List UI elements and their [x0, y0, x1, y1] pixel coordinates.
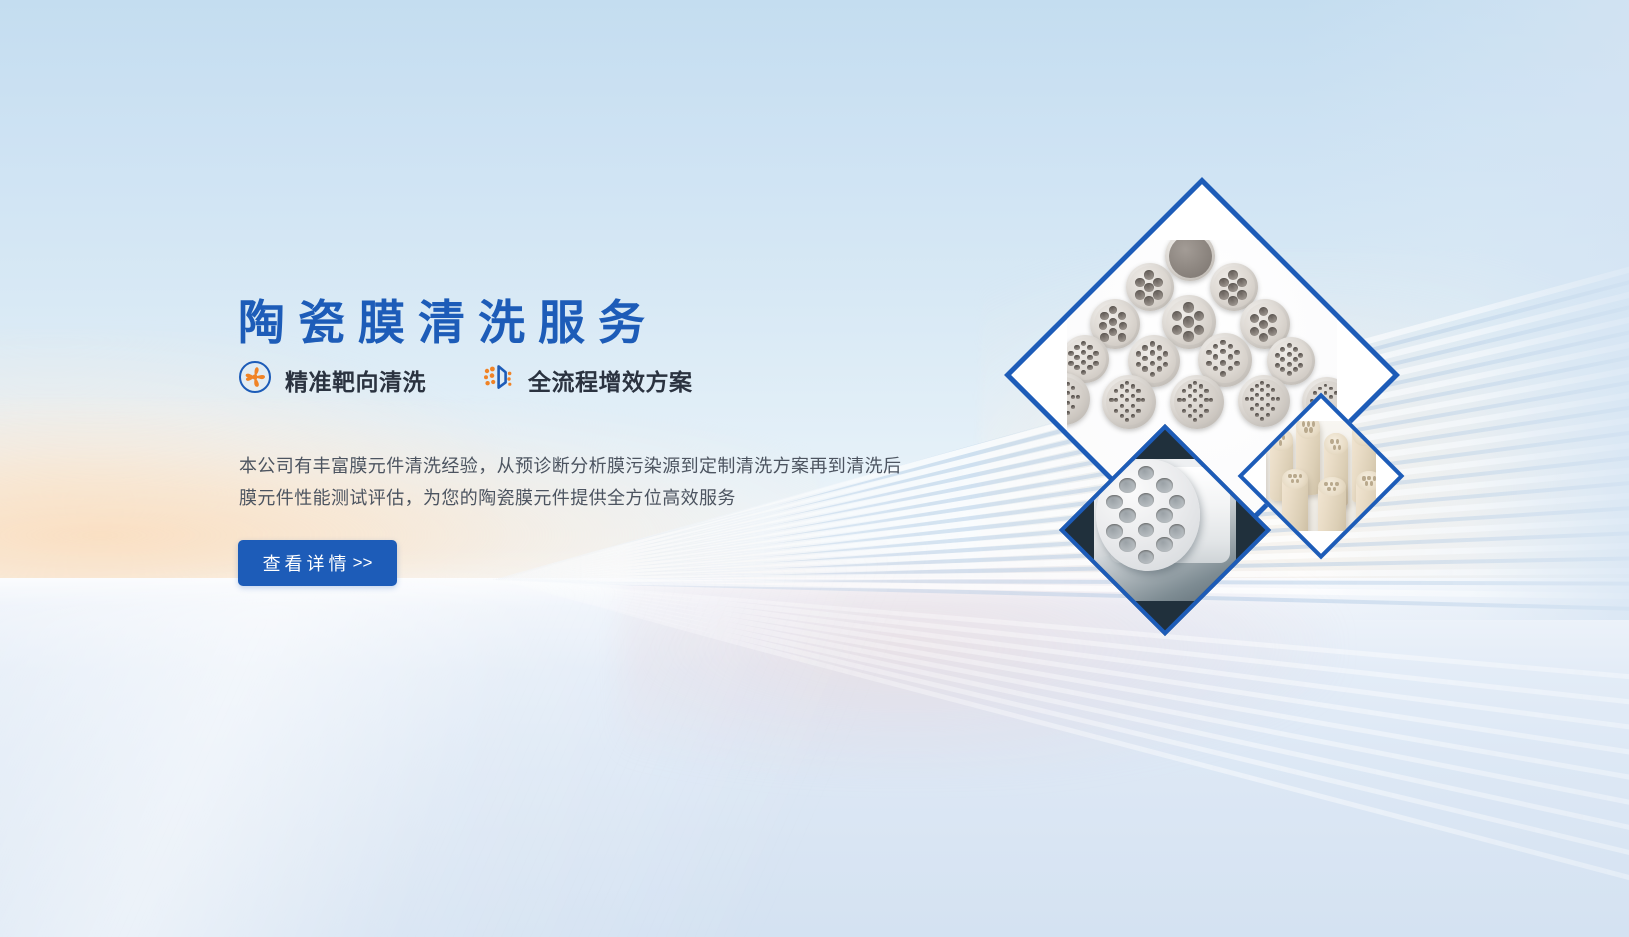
- feature-label-precision-cleaning: 精准靶向清洗: [285, 363, 426, 397]
- hero-banner: 陶瓷膜清洗服务 精: [0, 0, 1629, 937]
- description-text: 本公司有丰富膜元件清洗经验，从预诊断分析膜污染源到定制清洗方案再到清洗后膜元件性…: [239, 450, 911, 514]
- flow-process-icon: [481, 360, 515, 399]
- page-title: 陶瓷膜清洗服务: [238, 299, 658, 346]
- beige-tube-art: [1266, 421, 1376, 531]
- feature-item-full-process: 全流程增效方案: [481, 360, 693, 399]
- feature-list: 精准靶向清洗: [238, 360, 693, 399]
- feature-label-full-process: 全流程增效方案: [528, 363, 693, 397]
- chevron-right-double-icon: >>: [353, 553, 373, 573]
- pinwheel-icon: [238, 360, 272, 399]
- banner-content: 陶瓷膜清洗服务 精: [238, 0, 998, 937]
- feature-item-precision-cleaning: 精准靶向清洗: [238, 360, 426, 399]
- view-details-label: 查看详情: [263, 550, 351, 576]
- view-details-button[interactable]: 查看详情 >>: [238, 540, 397, 586]
- single-tube-art: [1094, 459, 1236, 601]
